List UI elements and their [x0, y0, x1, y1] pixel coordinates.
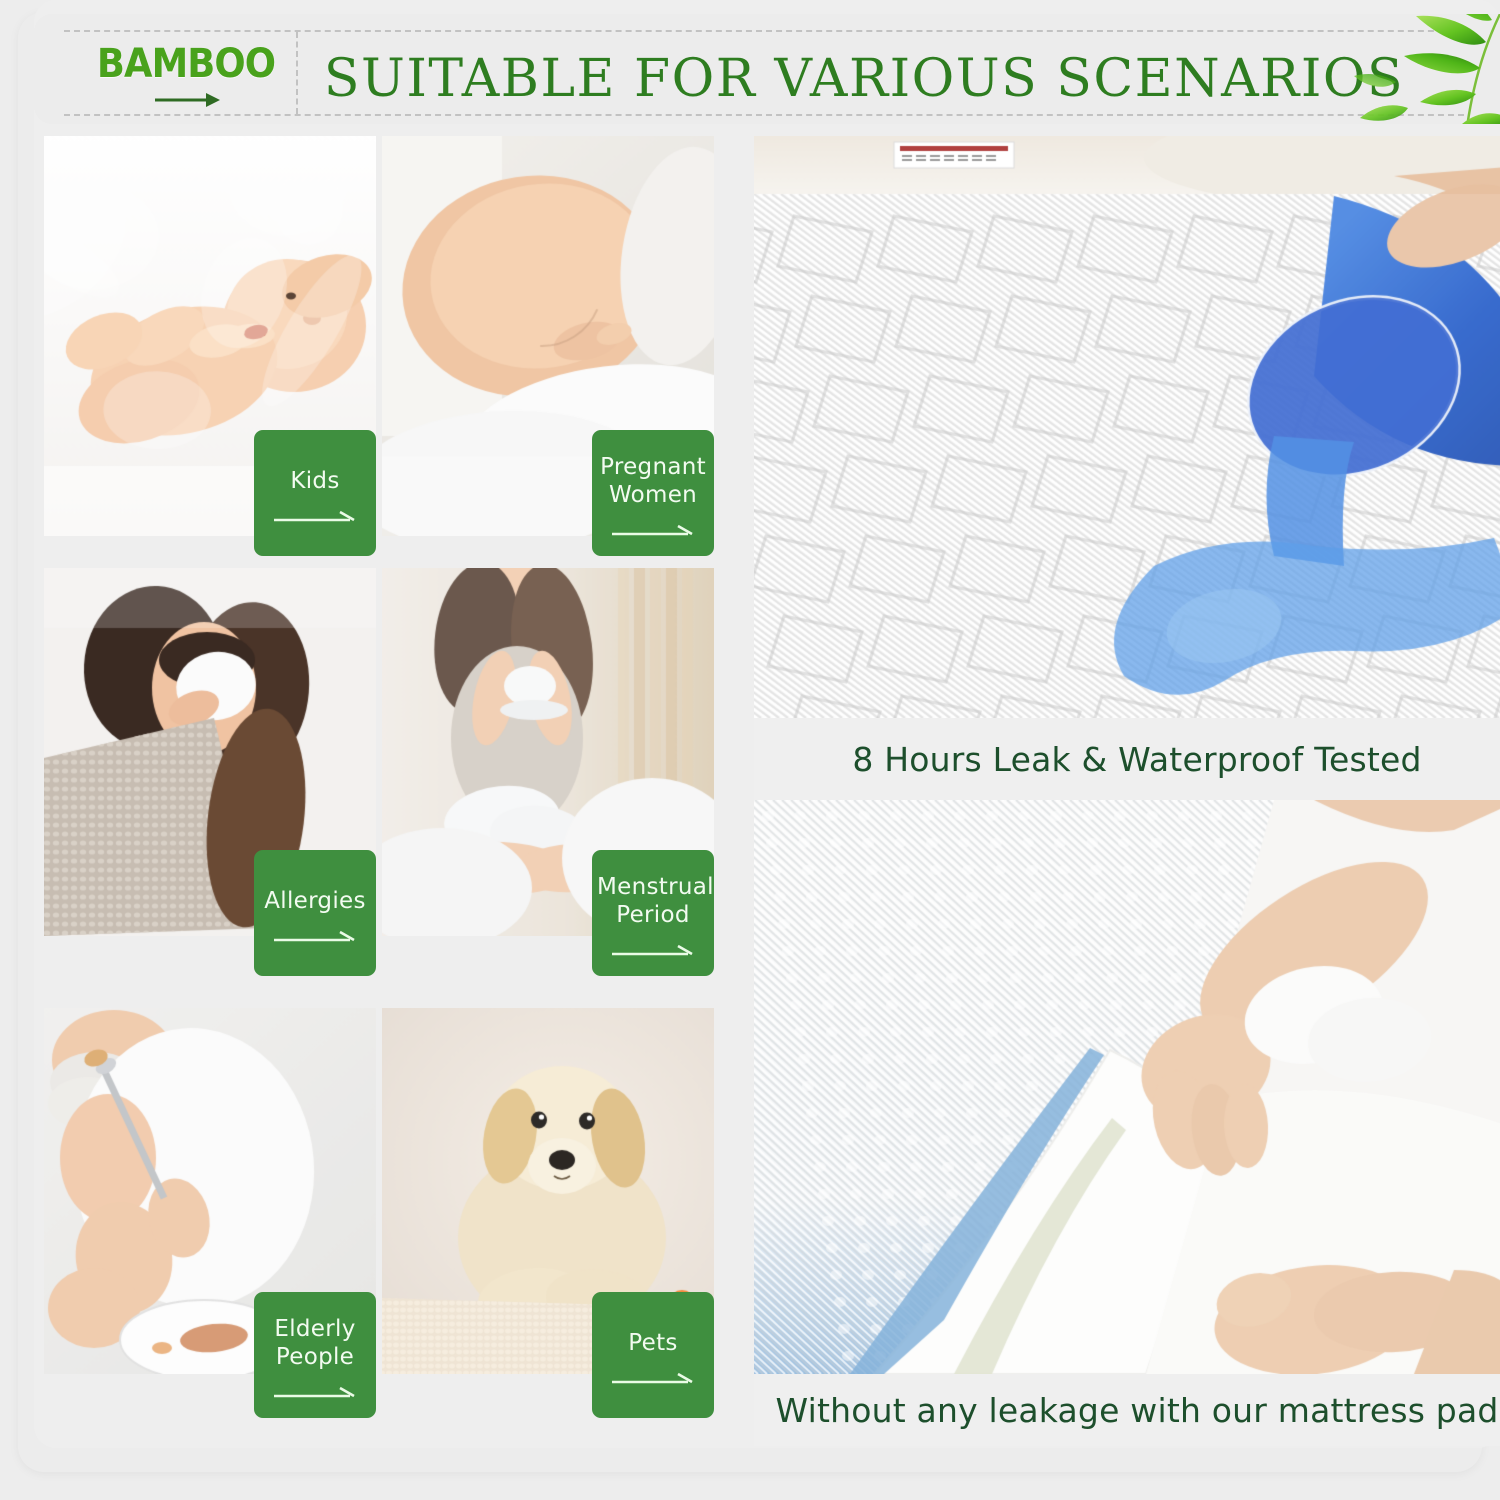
scenario-badge-kids[interactable]: Kids — [254, 430, 376, 556]
demo-column: 8 Hours Leak & Waterproof Tested Without… — [724, 136, 1486, 1432]
badge-label-line1: Kids — [259, 467, 371, 495]
scenario-grid: Kids Pregnant Women — [40, 136, 718, 1432]
scenario-card-allergies[interactable]: Allergies — [44, 568, 376, 936]
scenario-badge-allergies[interactable]: Allergies — [254, 850, 376, 976]
badge-arrow-icon — [610, 1371, 696, 1385]
scenario-badge-pregnant-women[interactable]: Pregnant Women — [592, 430, 714, 556]
infographic-page: BAMBOO SUITABLE FOR VARIOUS SCENARIOS — [0, 0, 1500, 1500]
page-title: SUITABLE FOR VARIOUS SCENARIOS — [334, 44, 1394, 114]
leakage-demo-photo — [754, 800, 1500, 1374]
waterproof-demo-caption: 8 Hours Leak & Waterproof Tested — [754, 718, 1500, 800]
badge-label-line1: Pregnant — [597, 453, 709, 481]
badge-arrow-icon — [272, 509, 358, 523]
brand-name: BAMBOO — [90, 42, 281, 86]
header-bar: BAMBOO SUITABLE FOR VARIOUS SCENARIOS — [34, 14, 1500, 124]
badge-arrow-icon — [272, 1385, 358, 1399]
scenario-card-pets[interactable]: Pets — [382, 1008, 714, 1374]
scenario-card-elderly-people[interactable]: Elderly People — [44, 1008, 376, 1374]
badge-arrow-icon — [610, 943, 696, 957]
brand-logo: BAMBOO — [82, 42, 290, 114]
main-content: Kids Pregnant Women — [34, 128, 1486, 1438]
header-dashed-divider — [296, 32, 298, 114]
badge-label-line2: Women — [597, 481, 709, 509]
badge-label-line2: People — [259, 1343, 371, 1371]
badge-label-line2: Period — [597, 901, 709, 929]
scenario-badge-menstrual-period[interactable]: Menstrual Period — [592, 850, 714, 976]
badge-label-line1: Pets — [597, 1329, 709, 1357]
scenario-badge-pets[interactable]: Pets — [592, 1292, 714, 1418]
scenario-card-menstrual-period[interactable]: Menstrual Period — [382, 568, 714, 936]
badge-label-line1: Allergies — [259, 887, 371, 915]
leakage-demo-caption: Without any leakage with our mattress pa… — [754, 1374, 1500, 1446]
badge-arrow-icon — [272, 929, 358, 943]
badge-label-line1: Elderly — [259, 1315, 371, 1343]
waterproof-demo-photo — [754, 136, 1500, 718]
badge-arrow-icon — [610, 523, 696, 537]
scenario-card-pregnant-women[interactable]: Pregnant Women — [382, 136, 714, 536]
brand-arrow-icon — [82, 88, 290, 114]
scenario-card-kids[interactable]: Kids — [44, 136, 376, 536]
header-dashed-bottom-rule — [64, 114, 1464, 116]
header-dashed-top-rule — [64, 30, 1464, 32]
scenario-badge-elderly-people[interactable]: Elderly People — [254, 1292, 376, 1418]
badge-label-line1: Menstrual — [597, 873, 709, 901]
